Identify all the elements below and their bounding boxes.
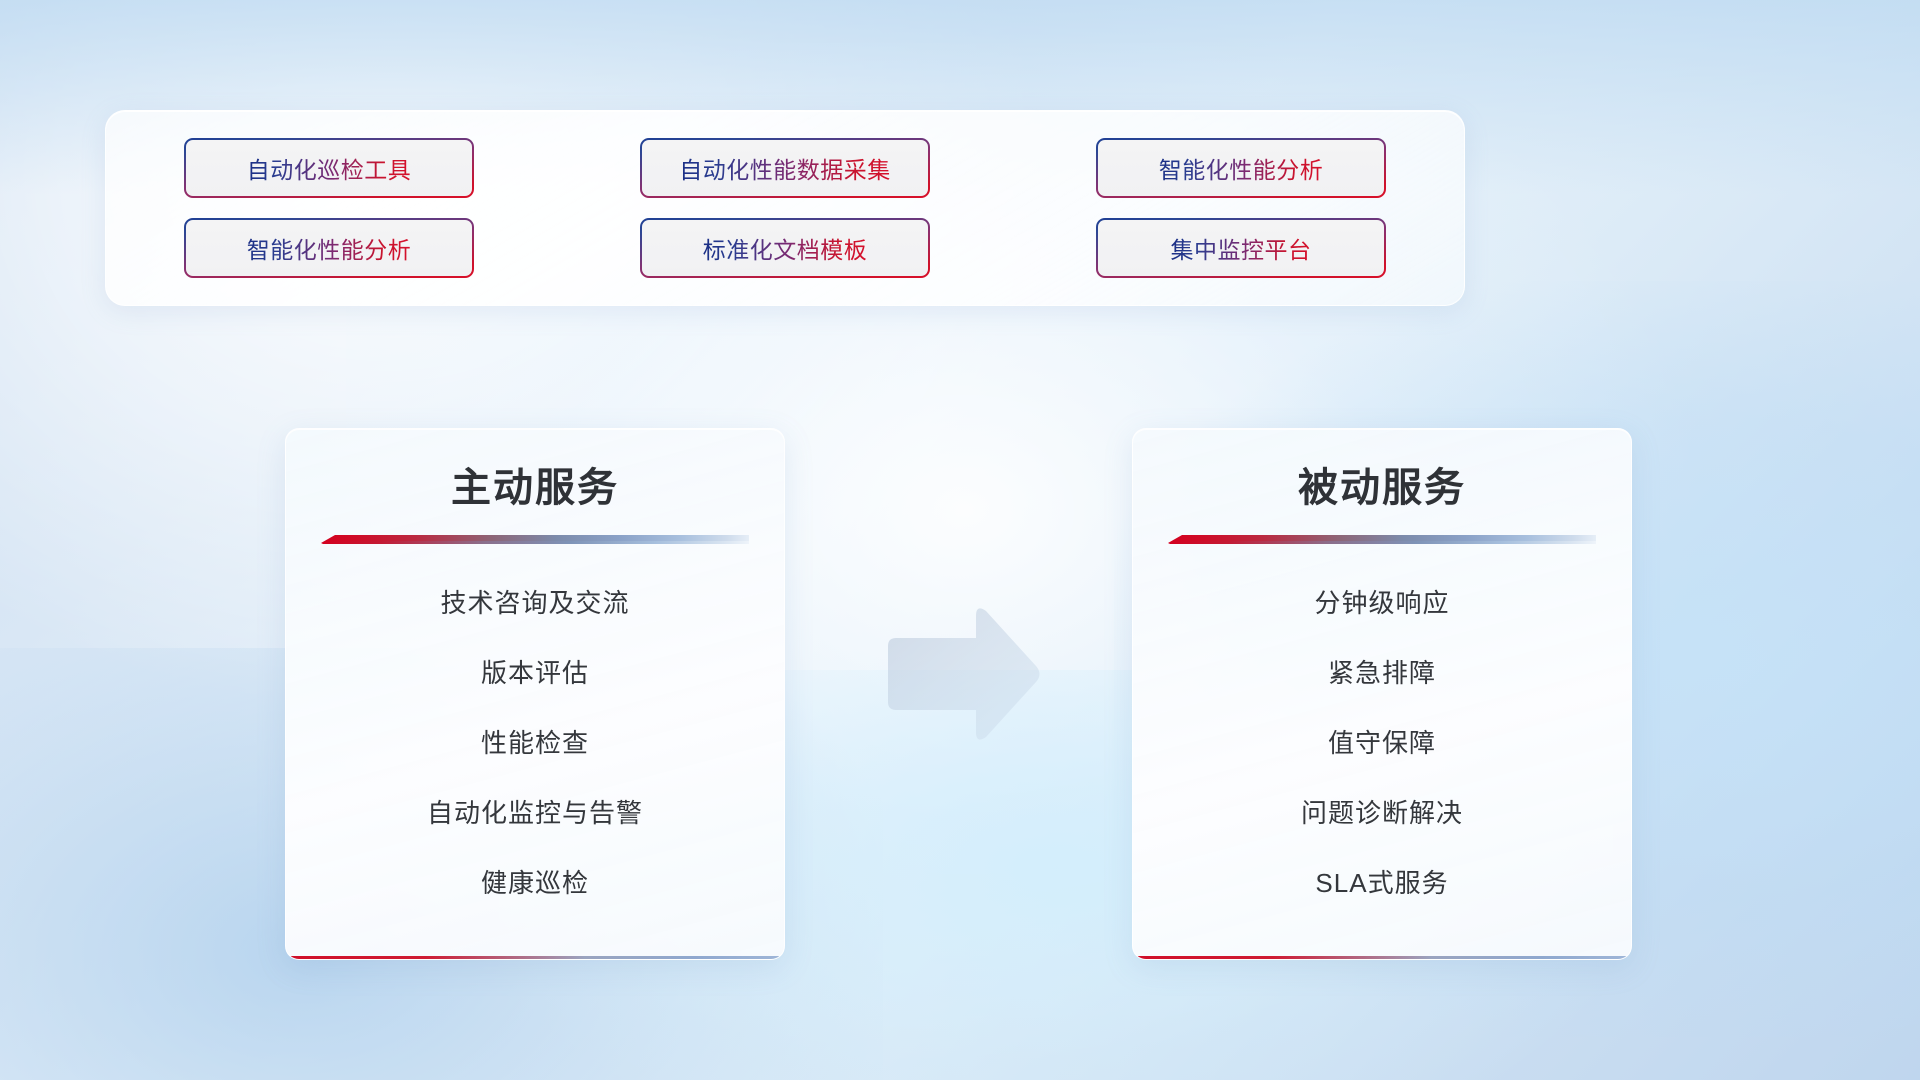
- capability-tag-automated-performance-data-collection[interactable]: 自动化性能数据采集: [640, 138, 930, 198]
- capability-tag-intelligent-performance-analysis-1[interactable]: 智能化性能分析: [1096, 138, 1386, 198]
- card-divider: [1168, 535, 1596, 544]
- capability-tag-intelligent-performance-analysis-2[interactable]: 智能化性能分析: [184, 218, 474, 278]
- capability-tags-panel: 自动化巡检工具 自动化性能数据采集 智能化性能分析 智能化性能分析 标准化文档模…: [105, 110, 1465, 306]
- card-passive-service: 被动服务 分钟级响应 紧急排障 值守保障 问题诊断解决 SLA式服务: [1132, 428, 1632, 960]
- list-item: 紧急排障: [1328, 660, 1436, 686]
- card-title: 主动服务: [286, 455, 784, 513]
- capability-tag-row-1: 自动化巡检工具 自动化性能数据采集 智能化性能分析: [184, 138, 1386, 198]
- card-service-list: 分钟级响应 紧急排障 值守保障 问题诊断解决 SLA式服务: [1133, 544, 1631, 896]
- card-divider-bar-thin: [1168, 541, 1596, 544]
- card-bottom-accent: [286, 956, 784, 959]
- list-item: SLA式服务: [1315, 870, 1448, 896]
- capability-tag-label: 集中监控平台: [1171, 231, 1312, 265]
- capability-tag-standardized-document-template[interactable]: 标准化文档模板: [640, 218, 930, 278]
- list-item: 问题诊断解决: [1301, 800, 1463, 826]
- capability-tag-automated-inspection-tool[interactable]: 自动化巡检工具: [184, 138, 474, 198]
- list-item: 值守保障: [1328, 730, 1436, 756]
- capability-tag-label: 智能化性能分析: [1159, 151, 1324, 185]
- card-active-service: 主动服务 技术咨询及交流 版本评估 性能检查 自动化监控与告警 健康巡检: [285, 428, 785, 960]
- tag-inner: 自动化性能数据采集: [642, 140, 928, 196]
- list-item: 技术咨询及交流: [440, 590, 629, 616]
- card-divider-bar-thin: [321, 541, 749, 544]
- capability-tag-centralized-monitoring-platform[interactable]: 集中监控平台: [1096, 218, 1386, 278]
- capability-tag-row-2: 智能化性能分析 标准化文档模板 集中监控平台: [184, 218, 1386, 278]
- list-item: 健康巡检: [481, 870, 589, 896]
- tag-inner: 智能化性能分析: [1098, 140, 1384, 196]
- card-service-list: 技术咨询及交流 版本评估 性能检查 自动化监控与告警 健康巡检: [286, 544, 784, 896]
- card-title: 被动服务: [1133, 455, 1631, 513]
- capability-tag-label: 自动化巡检工具: [247, 151, 412, 185]
- list-item: 自动化监控与告警: [427, 800, 643, 826]
- tag-inner: 标准化文档模板: [642, 220, 928, 276]
- tag-inner: 集中监控平台: [1098, 220, 1384, 276]
- card-divider: [321, 535, 749, 544]
- card-bottom-accent: [1133, 956, 1631, 959]
- capability-tag-label: 自动化性能数据采集: [679, 151, 891, 185]
- list-item: 版本评估: [481, 660, 589, 686]
- arrow-right-icon: [880, 600, 1045, 750]
- list-item: 分钟级响应: [1314, 590, 1449, 616]
- list-item: 性能检查: [481, 730, 589, 756]
- capability-tag-label: 智能化性能分析: [247, 231, 412, 265]
- tag-inner: 智能化性能分析: [186, 220, 472, 276]
- tag-inner: 自动化巡检工具: [186, 140, 472, 196]
- capability-tag-label: 标准化文档模板: [703, 231, 868, 265]
